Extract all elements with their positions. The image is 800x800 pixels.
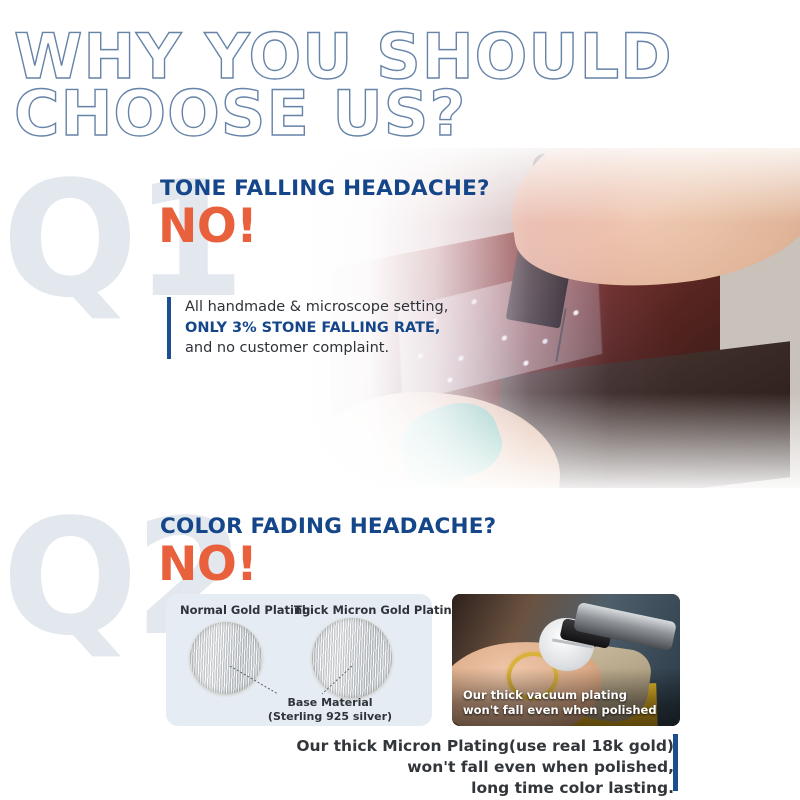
base-material-caption-line-2: (Sterling 925 silver) bbox=[230, 710, 430, 724]
page-title-line-2: CHOOSE US? bbox=[14, 85, 784, 142]
q2-heading: COLOR FADING HEADACHE? bbox=[160, 514, 496, 539]
q2-statement-line-2: won't fall even when polished, bbox=[296, 757, 674, 778]
q1-heading: TONE FALLING HEADACHE? bbox=[160, 176, 490, 201]
infographic-page: WHY YOU SHOULD CHOOSE US? Q1 TONE FALLIN… bbox=[0, 0, 800, 800]
q2-photo-caption: Our thick vacuum plating won't fall even… bbox=[463, 688, 657, 718]
q2-photo-caption-line-2: won't fall even when polished bbox=[463, 703, 657, 718]
q1-answer: NO! bbox=[158, 203, 257, 250]
q1-body-line-2: ONLY 3% STONE FALLING RATE, bbox=[185, 318, 448, 339]
q2-statement-accent-bar bbox=[673, 734, 678, 791]
q1-body-line-3: and no customer complaint. bbox=[185, 338, 448, 359]
q2-statement-line-3: long time color lasting. bbox=[296, 778, 674, 799]
q2-statement-line-1: Our thick Micron Plating(use real 18k go… bbox=[296, 736, 674, 757]
base-material-caption-line-1: Base Material bbox=[230, 696, 430, 710]
q2-photo: Our thick vacuum plating won't fall even… bbox=[452, 594, 680, 726]
q2-statement: Our thick Micron Plating(use real 18k go… bbox=[296, 736, 674, 799]
q2-photo-caption-line-1: Our thick vacuum plating bbox=[463, 688, 657, 703]
plating-comparison-panel: Normal Gold Plating Thick Micron Gold Pl… bbox=[166, 594, 432, 726]
q1-body-text: All handmade & microscope setting, ONLY … bbox=[167, 297, 448, 359]
page-title: WHY YOU SHOULD CHOOSE US? bbox=[14, 28, 784, 142]
q1-body-line-1: All handmade & microscope setting, bbox=[185, 297, 448, 318]
q2-answer: NO! bbox=[158, 541, 257, 588]
base-material-caption: Base Material (Sterling 925 silver) bbox=[230, 696, 430, 724]
